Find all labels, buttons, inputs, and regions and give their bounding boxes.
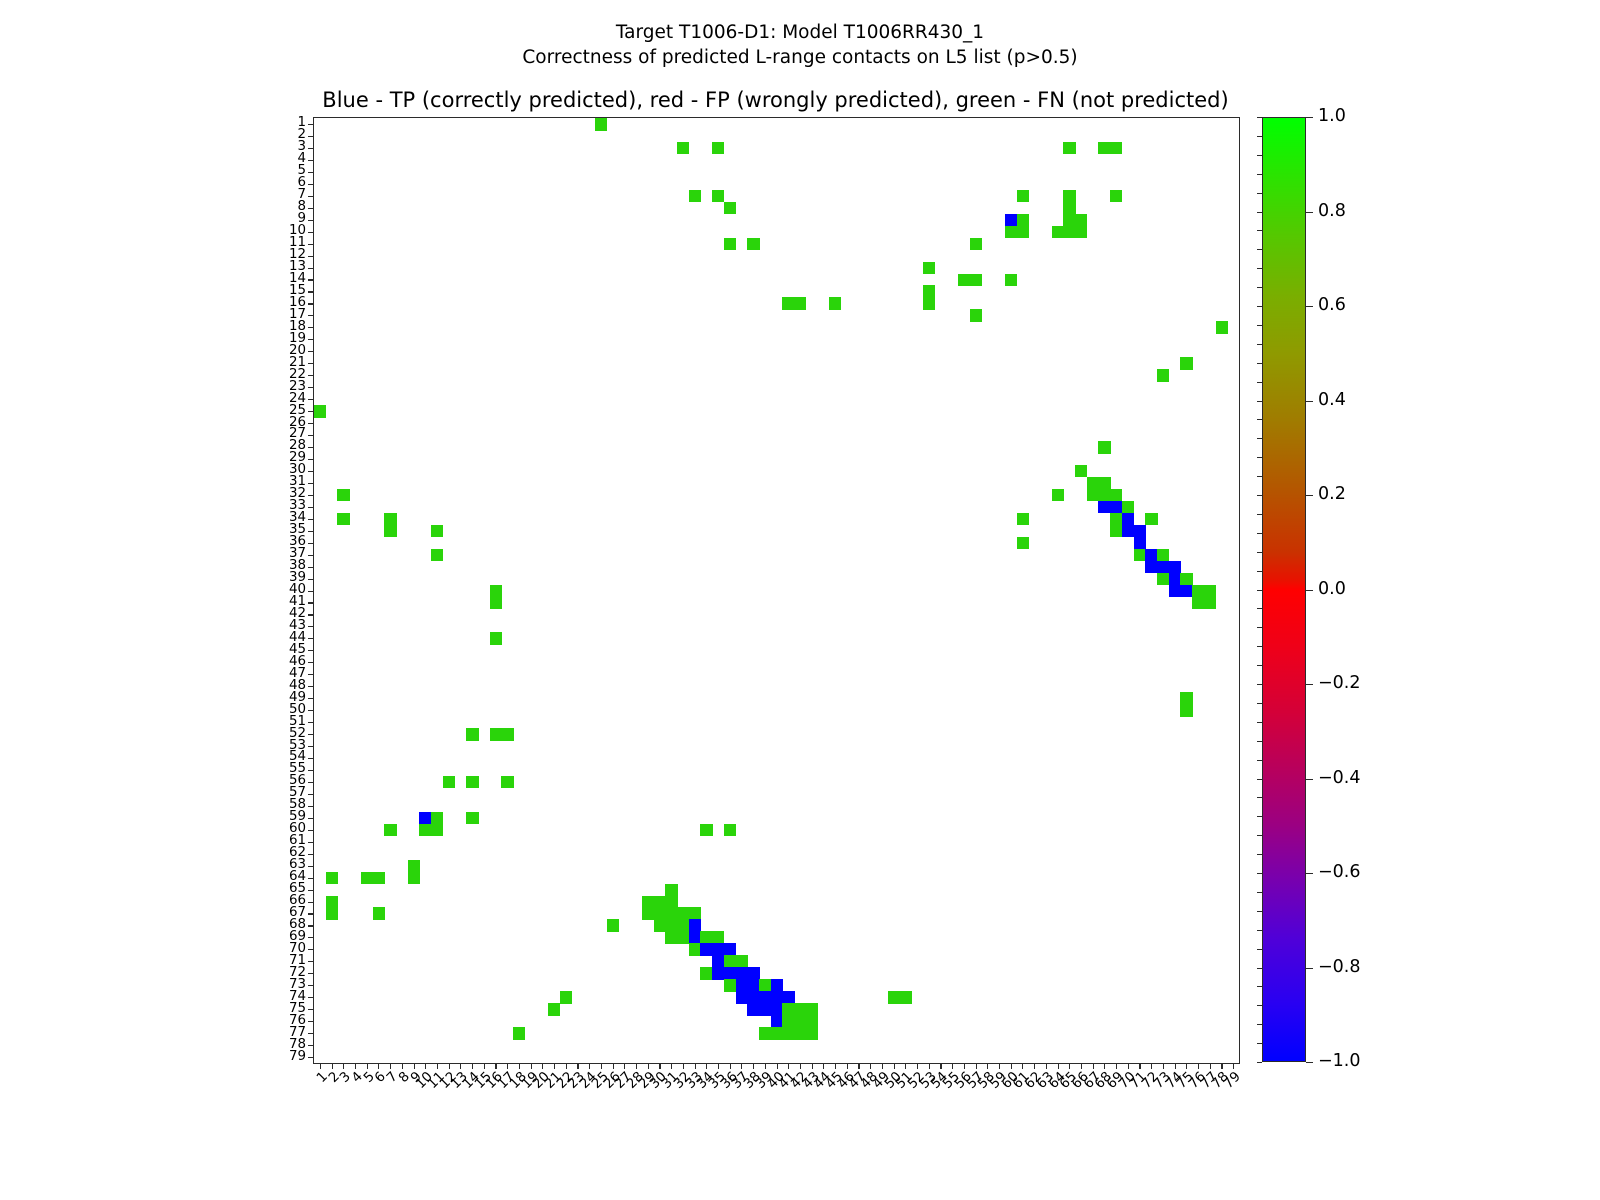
contact-cell [501,776,513,789]
contact-cell [654,907,666,920]
colorbar-minor-tick [1257,193,1262,194]
y-axis-tick [308,734,314,735]
contact-cell [1157,369,1169,382]
y-axis-tick [308,387,314,388]
y-axis-tick [308,614,314,615]
y-axis-tick [308,208,314,209]
y-axis-tick [308,543,314,544]
contact-cell [700,824,712,837]
colorbar-tick [1306,212,1313,213]
contact-cell [677,931,689,944]
x-axis-tick [870,1063,871,1069]
contact-cell [689,190,701,203]
colorbar-tick-label: 0.6 [1318,297,1346,315]
x-axis-tick [1139,1063,1140,1069]
contact-cell [326,896,338,909]
contact-cell [1005,226,1017,239]
contact-cell [1192,585,1204,598]
x-axis-tick [1221,1063,1222,1069]
contact-cell [724,943,736,956]
contact-cell [1075,226,1087,239]
y-axis-tick [308,291,314,292]
contact-cell [888,991,900,1004]
contact-cell [1204,585,1216,598]
contact-cell [1017,190,1029,203]
y-axis-tick [308,626,314,627]
x-axis-tick [531,1063,532,1069]
x-axis-tick [601,1063,602,1069]
y-axis-tick [308,1009,314,1010]
y-axis-tick [308,818,314,819]
x-axis-tick [940,1063,941,1069]
colorbar-minor-tick [1257,968,1262,969]
contact-cell [794,297,806,310]
contact-cell [431,824,443,837]
x-axis-tick [1081,1063,1082,1069]
contact-cell [1098,441,1110,454]
y-axis-tick [308,782,314,783]
y-axis-tick [308,339,314,340]
contact-cell [970,238,982,251]
y-axis-tick [308,555,314,556]
contact-cell [1063,190,1075,203]
contact-cell [361,872,373,885]
y-axis-tick [308,878,314,879]
x-axis-tick [437,1063,438,1069]
x-axis-tick [823,1063,824,1069]
x-axis-tick [882,1063,883,1069]
contact-cell [771,1015,783,1028]
y-axis-tick [308,1021,314,1022]
contact-cells-layer [314,118,1239,1063]
x-axis-tick [847,1063,848,1069]
contact-cell [724,202,736,215]
contact-cell [1169,573,1181,586]
contact-cell [958,274,970,287]
y-axis-tick [308,531,314,532]
x-axis-tick [554,1063,555,1069]
y-axis-tick [308,459,314,460]
contact-cell [736,955,748,968]
contact-cell [1145,549,1157,562]
colorbar-tick-label: 1.0 [1318,108,1346,126]
colorbar-minor-tick [1257,797,1262,798]
contact-cell [1180,357,1192,370]
colorbar-minor-tick [1257,911,1262,912]
y-axis-tick [308,519,314,520]
contact-cell [759,1003,771,1016]
colorbar-minor-tick [1257,930,1262,931]
contact-cell [326,872,338,885]
y-axis-tick [308,411,314,412]
contact-cell [1145,513,1157,526]
colorbar-tick [1306,684,1313,685]
contact-cell [771,979,783,992]
x-axis-tick [835,1063,836,1069]
contact-cell [806,1015,818,1028]
x-axis-tick [1011,1063,1012,1069]
contact-cell [1098,489,1110,502]
contact-cell [408,872,420,885]
x-axis-tick [332,1063,333,1069]
contact-cell [677,907,689,920]
contact-cell [1052,489,1064,502]
colorbar-container: 1.00.80.60.40.20.0−0.2−0.4−0.6−0.8−1.0 [1262,117,1306,1062]
colorbar-minor-tick [1257,571,1262,572]
contact-cell [724,824,736,837]
x-axis-tick [812,1063,813,1069]
colorbar-minor-tick [1257,703,1262,704]
contact-cell [724,967,736,980]
colorbar-minor-tick [1257,438,1262,439]
contact-cell [1110,525,1122,538]
x-axis-tick [1058,1063,1059,1069]
contact-cell [654,896,666,909]
y-axis-tick [308,698,314,699]
contact-cell [490,632,502,645]
y-axis-tick [308,184,314,185]
colorbar-tick-label: 0.0 [1318,581,1346,599]
contact-cell [665,896,677,909]
contact-cell [1157,573,1169,586]
colorbar-tick [1306,117,1313,118]
colorbar-minor-tick [1257,401,1262,402]
y-axis-tick [308,1045,314,1046]
x-axis-tick [1151,1063,1152,1069]
contact-cell [689,931,701,944]
figure-canvas: Target T1006-D1: Model T1006RR430_1 Corr… [0,0,1600,1200]
contact-cell [923,285,935,298]
x-axis-tick [905,1063,906,1069]
contact-cell [1075,465,1087,478]
contact-cell [1145,561,1157,574]
y-axis-tick [308,1033,314,1034]
x-axis-tick [460,1063,461,1069]
y-axis-tick [308,483,314,484]
y-axis-tick [308,435,314,436]
x-axis-tick [671,1063,672,1069]
x-axis-tick [648,1063,649,1069]
contact-cell [1005,274,1017,287]
contact-cell [1204,596,1216,609]
y-axis-tick [308,770,314,771]
x-axis-tick [917,1063,918,1069]
y-axis-tick [308,997,314,998]
contact-cell [1180,704,1192,717]
contact-cell [677,919,689,932]
colorbar-tick-label: −0.2 [1318,675,1361,693]
contact-cell [970,274,982,287]
x-axis-labels: 1234567891011121314151617181920212223242… [313,1062,1238,1182]
y-axis-tick [308,638,314,639]
contact-cell [490,585,502,598]
contact-cell [689,919,701,932]
x-axis-tick [1093,1063,1094,1069]
contact-cell [373,907,385,920]
contact-cell [1192,596,1204,609]
contact-cell [1017,513,1029,526]
contact-map-plot[interactable] [313,117,1240,1064]
y-axis-tick [308,591,314,592]
colorbar-tick-label: −0.8 [1318,959,1361,977]
x-axis-tick [1128,1063,1129,1069]
x-axis-tick [964,1063,965,1069]
colorbar-tick [1306,968,1313,969]
x-axis-tick [858,1063,859,1069]
x-axis-tick [1034,1063,1035,1069]
colorbar-tick-label: −0.4 [1318,770,1361,788]
contact-cell [431,525,443,538]
x-axis-tick [495,1063,496,1069]
y-axis-tick [308,327,314,328]
contact-cell [782,297,794,310]
y-axis-tick [308,447,314,448]
y-axis-tick [308,399,314,400]
x-axis-tick [414,1063,415,1069]
contact-cell [373,872,385,885]
x-axis-tick [484,1063,485,1069]
colorbar-minor-tick [1257,590,1262,591]
y-axis-tick [308,937,314,938]
y-axis-tick [308,196,314,197]
colorbar-minor-tick [1257,627,1262,628]
contact-cell [1098,501,1110,514]
y-axis-tick [308,902,314,903]
x-axis-tick [718,1063,719,1069]
contact-cell [419,824,431,837]
contact-cell [1110,489,1122,502]
colorbar-minor-tick [1257,382,1262,383]
y-axis-tick [308,160,314,161]
x-axis-tick [519,1063,520,1069]
y-axis-tick [308,650,314,651]
x-axis-tick [1186,1063,1187,1069]
x-axis-tick [987,1063,988,1069]
colorbar-tick [1306,495,1313,496]
colorbar-minor-tick [1257,1024,1262,1025]
colorbar-minor-tick [1257,287,1262,288]
colorbar-minor-tick [1257,986,1262,987]
x-axis-tick [624,1063,625,1069]
colorbar-tick-label: 0.8 [1318,203,1346,221]
x-axis-tick [976,1063,977,1069]
contact-cell [501,728,513,741]
y-axis-tick [308,973,314,974]
contact-cell [736,991,748,1004]
contact-cell [747,967,759,980]
contact-cell [1110,190,1122,203]
contact-cell [1216,321,1228,334]
y-axis-tick [308,925,314,926]
y-axis-tick [308,244,314,245]
contact-cell [724,979,736,992]
y-axis-tick [308,674,314,675]
x-axis-tick [378,1063,379,1069]
y-axis-tick [308,1057,314,1058]
x-axis-tick [1116,1063,1117,1069]
x-axis-tick [1069,1063,1070,1069]
y-axis-tick [308,662,314,663]
contact-cell [1157,549,1169,562]
colorbar-minor-tick [1257,684,1262,685]
contact-cell [419,812,431,825]
contact-cell [712,190,724,203]
colorbar-minor-tick [1257,533,1262,534]
y-axis-tick [308,375,314,376]
colorbar-minor-tick [1257,949,1262,950]
contact-cell [736,967,748,980]
x-axis-tick [659,1063,660,1069]
contact-cell [677,142,689,155]
contact-cell [665,931,677,944]
y-axis-tick [308,949,314,950]
x-axis-tick [894,1063,895,1069]
contact-cell [314,405,326,418]
y-axis-tick [308,495,314,496]
y-axis-tick [308,232,314,233]
y-axis-tick [308,220,314,221]
x-axis-tick [800,1063,801,1069]
x-axis-tick [402,1063,403,1069]
contact-cell [548,1003,560,1016]
contact-cell [712,967,724,980]
contact-cell [431,812,443,825]
colorbar-minor-tick [1257,155,1262,156]
x-axis-tick [449,1063,450,1069]
contact-cell [1157,561,1169,574]
contact-cell [712,931,724,944]
contact-cell [700,967,712,980]
contact-cell [1169,585,1181,598]
colorbar-minor-tick [1257,344,1262,345]
y-axis-tick [308,794,314,795]
x-axis-tick [472,1063,473,1069]
contact-cell [689,943,701,956]
colorbar-minor-tick [1257,722,1262,723]
colorbar-minor-tick [1257,665,1262,666]
contact-cell [771,1027,783,1040]
contact-cell [642,896,654,909]
contact-cell [1122,525,1134,538]
y-axis-tick [308,854,314,855]
y-axis-tick [308,256,314,257]
y-axis-tick [308,507,314,508]
y-axis-tick [308,579,314,580]
contact-cell [665,884,677,897]
contact-cell [1052,226,1064,239]
colorbar-minor-tick [1257,268,1262,269]
colorbar-minor-tick [1257,835,1262,836]
x-axis-tick [952,1063,953,1069]
contact-cell [1063,214,1075,227]
y-axis-tick [308,710,314,711]
contact-cell [782,991,794,1004]
contact-cell [759,979,771,992]
colorbar-minor-tick [1257,892,1262,893]
x-axis-tick [566,1063,567,1069]
contact-cell [794,1003,806,1016]
colorbar-tick [1306,873,1313,874]
contact-cell [806,1003,818,1016]
colorbar-minor-tick [1257,552,1262,553]
contact-cell [1110,142,1122,155]
colorbar-minor-tick [1257,363,1262,364]
colorbar-minor-tick [1257,816,1262,817]
contact-cell [384,525,396,538]
contact-cell [782,1015,794,1028]
contact-cell [1063,142,1075,155]
contact-cell [1017,214,1029,227]
contact-cell [466,812,478,825]
x-axis-tick [390,1063,391,1069]
colorbar-minor-tick [1257,325,1262,326]
y-axis-labels: 1234567891011121314151617181920212223242… [240,117,306,1062]
x-axis-tick [507,1063,508,1069]
contact-cell [1005,214,1017,227]
contact-cell [490,728,502,741]
contact-cell [642,907,654,920]
colorbar-gradient [1262,117,1306,1062]
contact-cell [560,991,572,1004]
contact-cell [654,919,666,932]
contact-cell [337,489,349,502]
colorbar-tick-label: −1.0 [1318,1053,1361,1071]
contact-cell [712,943,724,956]
contact-cell [899,991,911,1004]
y-axis-tick [308,602,314,603]
colorbar-minor-tick [1257,608,1262,609]
x-axis-tick [777,1063,778,1069]
x-axis-tick [636,1063,637,1069]
colorbar-minor-tick [1257,230,1262,231]
contact-cell [466,776,478,789]
x-axis-tick [1210,1063,1211,1069]
y-axis-tick [308,961,314,962]
colorbar-minor-tick [1257,136,1262,137]
x-axis-tick [706,1063,707,1069]
contact-cell [1098,477,1110,490]
colorbar-minor-tick [1257,514,1262,515]
x-axis-tick [765,1063,766,1069]
contact-cell [1098,142,1110,155]
colorbar-minor-tick [1257,873,1262,874]
contact-cell [1180,692,1192,705]
contact-cell [923,262,935,275]
figure-title: Target T1006-D1: Model T1006RR430_1 Corr… [0,20,1600,70]
contact-cell [747,238,759,251]
contact-cell [1017,537,1029,550]
contact-cell [1180,573,1192,586]
contact-cell [794,1015,806,1028]
x-axis-tick [1163,1063,1164,1069]
colorbar-tick [1306,1062,1313,1063]
x-axis-tick [1046,1063,1047,1069]
x-axis-tick [683,1063,684,1069]
y-axis-tick [308,363,314,364]
colorbar-minor-tick [1257,1062,1262,1063]
contact-cell [513,1027,525,1040]
contact-cell [771,991,783,1004]
contact-cell [806,1027,818,1040]
contact-cell [337,513,349,526]
contact-cell [700,943,712,956]
contact-cell [923,297,935,310]
contact-cell [1075,214,1087,227]
y-axis-tick [308,746,314,747]
contact-cell [771,1003,783,1016]
contact-cell [1134,525,1146,538]
title-line-1: Target T1006-D1: Model T1006RR430_1 [0,20,1600,45]
